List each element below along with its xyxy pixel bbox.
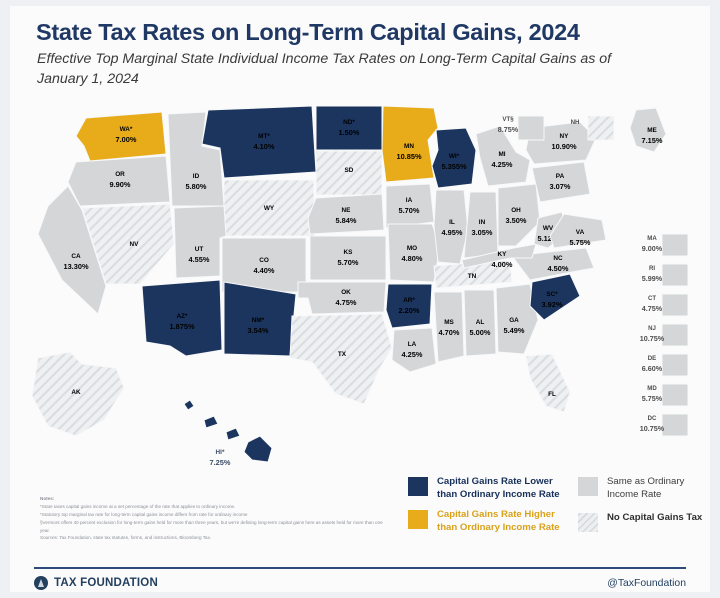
state-label-CO: CO — [259, 257, 269, 264]
notes-heading: Notes: — [40, 495, 390, 503]
notes-line-2: *Statutory top marginal tax rate for lon… — [40, 511, 390, 519]
legend-item-higher: Capital Gains Rate Higher than Ordinary … — [408, 509, 568, 534]
legend-label-same: Same as Ordinary Income Rate — [607, 476, 708, 501]
state-label-DE: DE — [648, 355, 656, 362]
state-NJ[interactable] — [662, 324, 688, 346]
state-label-VA: VA — [576, 229, 585, 236]
state-label-PA: PA — [556, 173, 565, 180]
state-MS[interactable] — [434, 292, 464, 362]
state-label-NY: NY — [560, 133, 570, 140]
state-label-ME: ME — [647, 127, 657, 134]
state-value-MA: 9.00% — [642, 244, 663, 253]
state-MO[interactable] — [388, 224, 440, 282]
state-value-SC: 3.92% — [542, 300, 563, 309]
state-label-SD: SD — [345, 167, 354, 174]
state-label-SC: SC* — [546, 291, 558, 298]
state-VT[interactable] — [518, 116, 544, 140]
state-label-MD: MD — [647, 385, 657, 392]
state-label-UT: UT — [195, 246, 204, 253]
state-value-OK: 4.75% — [336, 298, 357, 307]
state-value-NM: 3.54% — [248, 326, 269, 335]
state-value-GA: 5.49% — [504, 326, 525, 335]
notes-sources: Sources: Tax Foundation, state tax statu… — [40, 534, 390, 542]
state-label-LA: LA — [408, 341, 417, 348]
legend-item-same: Same as Ordinary Income Rate — [578, 476, 708, 501]
page-title: State Tax Rates on Long-Term Capital Gai… — [36, 20, 686, 46]
state-value-RI: 5.99% — [642, 274, 663, 283]
state-OH[interactable] — [498, 184, 540, 246]
state-CT[interactable] — [662, 294, 688, 316]
state-label-MT: MT* — [258, 133, 270, 140]
state-value-DC: 10.75% — [640, 424, 665, 433]
state-value-ID: 5.80% — [186, 182, 207, 191]
legend-swatch-hatch — [578, 513, 598, 532]
state-label-NH: NH — [571, 119, 580, 126]
tax-foundation-logo-icon — [34, 576, 48, 590]
state-label-AK: AK — [71, 389, 81, 396]
state-label-CA: CA — [71, 253, 81, 260]
state-value-MO: 4.80% — [402, 254, 423, 263]
state-value-MI: 4.25% — [492, 160, 513, 169]
state-label-VT: VT§ — [502, 116, 514, 123]
state-value-KS: 5.70% — [338, 258, 359, 267]
state-value-UT: 4.55% — [189, 255, 210, 264]
state-value-PA: 3.07% — [550, 182, 571, 191]
state-value-IA: 5.70% — [399, 206, 420, 215]
state-RI[interactable] — [662, 264, 688, 286]
state-label-NJ: NJ — [648, 325, 656, 332]
legend-swatch-gold — [408, 510, 428, 529]
state-value-IL: 4.95% — [442, 228, 463, 237]
state-value-CT: 4.75% — [642, 304, 663, 313]
state-MD[interactable] — [662, 384, 688, 406]
state-label-CT: CT — [648, 295, 656, 302]
state-value-KY: 4.00% — [492, 260, 513, 269]
state-label-MI: MI — [498, 151, 505, 158]
state-label-MA: MA — [647, 235, 657, 242]
state-label-WY: WY — [264, 205, 275, 212]
state-label-MO: MO — [407, 245, 417, 252]
state-value-NE: 5.84% — [336, 216, 357, 225]
state-label-GA: GA — [509, 317, 519, 324]
state-label-WI: WI* — [449, 153, 460, 160]
state-FL[interactable] — [526, 354, 570, 412]
state-UT[interactable] — [174, 206, 226, 278]
state-value-AL: 5.00% — [470, 328, 491, 337]
us-choropleth-map: .dk rect,.dk path,.dk polygon{fill:#1c35… — [24, 106, 714, 466]
state-value-NC: 4.50% — [548, 264, 569, 273]
state-TX[interactable] — [290, 314, 392, 404]
state-value-WI: 5.355% — [441, 162, 466, 171]
footer: TAX FOUNDATION @TaxFoundation — [34, 574, 686, 596]
notes-line-1: *State taxes capital gains income at a s… — [40, 503, 390, 511]
state-label-AR: AR* — [403, 297, 415, 304]
state-value-MS: 4.70% — [439, 328, 460, 337]
state-label-OR: OR — [115, 171, 125, 178]
state-value-VT: 8.75% — [498, 125, 519, 134]
state-label-RI: RI — [649, 265, 655, 272]
state-IL[interactable] — [434, 190, 468, 264]
state-label-OH: OH — [511, 207, 521, 214]
page-subtitle: Effective Top Marginal State Individual … — [37, 50, 657, 89]
state-label-IL: IL — [449, 219, 455, 226]
legend-label-lower: Capital Gains Rate Lower than Ordinary I… — [437, 476, 568, 501]
state-label-KS: KS — [344, 249, 354, 256]
infographic-page: State Tax Rates on Long-Term Capital Gai… — [0, 0, 720, 598]
state-label-AL: AL — [476, 319, 485, 326]
state-label-HI: HI* — [216, 449, 225, 456]
state-MA[interactable] — [662, 234, 688, 256]
state-label-AZ: AZ* — [176, 313, 188, 320]
state-label-DC: DC — [648, 415, 657, 422]
brand-name: TAX FOUNDATION — [54, 577, 158, 589]
state-label-TX: TX — [338, 351, 347, 358]
footer-divider — [34, 567, 686, 569]
state-label-NE: NE — [342, 207, 352, 214]
state-label-IN: IN — [479, 219, 486, 226]
state-DE[interactable] — [662, 354, 688, 376]
state-value-OH: 3.50% — [506, 216, 527, 225]
state-value-ND: 1.50% — [339, 128, 360, 137]
legend-label-none: No Capital Gains Tax — [607, 512, 702, 525]
state-value-WA: 7.00% — [116, 135, 137, 144]
notes-line-3: §Vermont offers 40 percent exclusion for… — [40, 519, 390, 535]
legend-item-none: No Capital Gains Tax — [578, 512, 708, 532]
state-value-MD: 5.75% — [642, 394, 663, 403]
state-label-WV: WV — [543, 225, 554, 232]
state-label-ID: ID — [193, 173, 200, 180]
legend-item-lower: Capital Gains Rate Lower than Ordinary I… — [408, 476, 568, 501]
state-HI[interactable] — [184, 400, 272, 462]
state-value-IN: 3.05% — [472, 228, 493, 237]
notes-block: Notes: *State taxes capital gains income… — [40, 495, 390, 542]
state-value-CA: 13.30% — [63, 262, 88, 271]
state-label-NC: NC — [553, 255, 563, 262]
state-label-OK: OK — [341, 289, 351, 296]
legend-label-higher: Capital Gains Rate Higher than Ordinary … — [437, 509, 568, 534]
state-value-AR: 2.20% — [399, 306, 420, 315]
state-value-OR: 9.90% — [110, 180, 131, 189]
state-label-FL: FL — [548, 391, 556, 398]
state-value-NJ: 10.75% — [640, 334, 665, 343]
state-label-MS: MS — [444, 319, 454, 326]
legend-swatch-navy — [408, 477, 428, 496]
state-value-LA: 4.25% — [402, 350, 423, 359]
state-label-ND: ND* — [343, 119, 355, 126]
state-value-ME: 7.15% — [642, 136, 663, 145]
brand-logo-group: TAX FOUNDATION — [34, 576, 158, 590]
social-handle: @TaxFoundation — [607, 578, 686, 589]
legend-swatch-gray — [578, 477, 598, 496]
state-label-KY: KY — [498, 251, 508, 258]
state-value-CO: 4.40% — [254, 266, 275, 275]
infographic-card: State Tax Rates on Long-Term Capital Gai… — [10, 6, 710, 592]
state-value-VA: 5.75% — [570, 238, 591, 247]
state-label-WA: WA* — [120, 126, 133, 133]
map-legend: Capital Gains Rate Lower than Ordinary I… — [408, 476, 708, 538]
state-label-NM: NM* — [252, 317, 265, 324]
state-value-HI: 7.25% — [210, 458, 231, 466]
state-value-MT: 4.10% — [254, 142, 275, 151]
state-NE[interactable] — [308, 194, 384, 234]
state-label-NV: NV — [130, 241, 140, 248]
state-label-TN: TN — [468, 273, 477, 280]
state-value-MN: 10.85% — [396, 152, 421, 161]
state-label-MN: MN — [404, 143, 414, 150]
state-label-IA: IA — [406, 197, 413, 204]
state-DC[interactable] — [662, 414, 688, 436]
state-value-DE: 6.60% — [642, 364, 663, 373]
state-value-NY: 10.90% — [551, 142, 576, 151]
state-value-AZ: 1.875% — [169, 322, 194, 331]
state-NH[interactable] — [588, 116, 614, 140]
